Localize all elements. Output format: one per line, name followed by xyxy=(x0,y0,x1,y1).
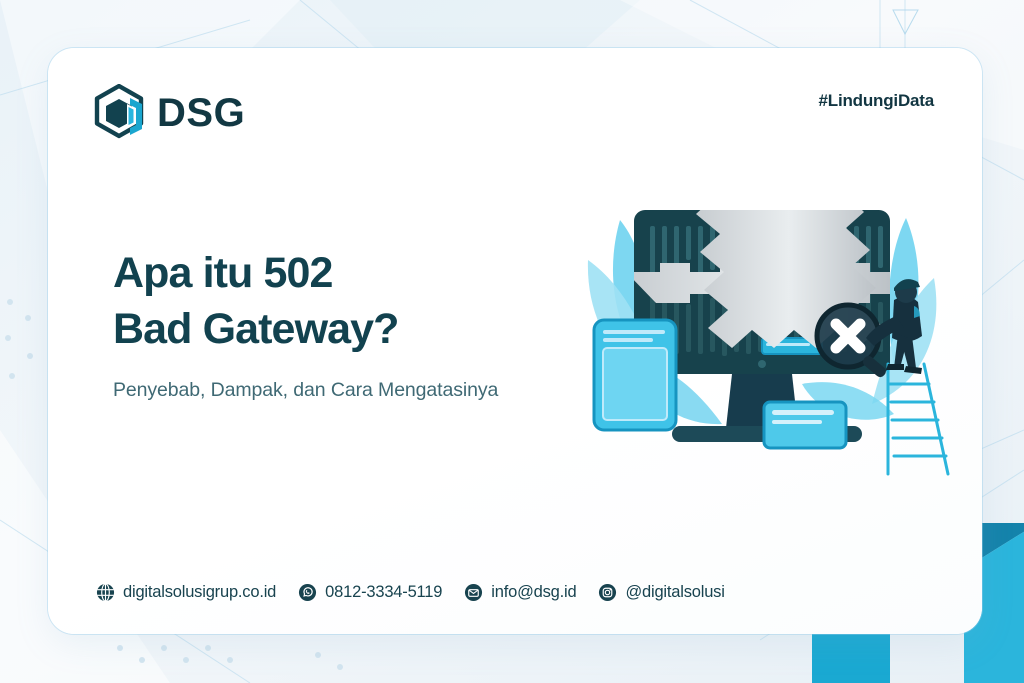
email-icon xyxy=(464,583,483,602)
contact-instagram[interactable]: @digitalsolusi xyxy=(598,583,724,602)
contact-bar: digitalsolusigrup.co.id 0812-3334-5119 xyxy=(96,583,725,602)
content-card: DSG #LindungiData Apa itu 502 Bad Gatewa… xyxy=(48,48,982,634)
contact-whatsapp[interactable]: 0812-3334-5119 xyxy=(298,583,442,602)
campaign-hashtag: #LindungiData xyxy=(819,91,934,111)
contact-website-label: digitalsolusigrup.co.id xyxy=(123,583,276,602)
contact-website[interactable]: digitalsolusigrup.co.id xyxy=(96,583,276,602)
contact-whatsapp-label: 0812-3334-5119 xyxy=(325,583,442,602)
tablet-card-icon xyxy=(594,320,676,430)
popup-card-icon xyxy=(764,402,846,448)
contact-email-label: info@dsg.id xyxy=(491,583,576,602)
hero-illustration xyxy=(576,188,976,488)
brand-wordmark: DSG xyxy=(157,93,245,133)
page-title: Apa itu 502 Bad Gateway? xyxy=(113,245,583,358)
contact-instagram-label: @digitalsolusi xyxy=(625,583,724,602)
whatsapp-icon xyxy=(298,583,317,602)
brand-logo[interactable]: DSG xyxy=(94,84,245,142)
page-subtitle: Penyebab, Dampak, dan Cara Mengatasinya xyxy=(113,379,583,402)
contact-email[interactable]: info@dsg.id xyxy=(464,583,576,602)
dsg-hexagon-logo-icon xyxy=(94,84,148,142)
hero-text-block: Apa itu 502 Bad Gateway? Penyebab, Dampa… xyxy=(113,245,583,402)
broken-server-monitor-icon xyxy=(576,188,976,488)
instagram-icon xyxy=(598,583,617,602)
poster-canvas: DSG #LindungiData Apa itu 502 Bad Gatewa… xyxy=(0,0,1024,683)
globe-icon xyxy=(96,583,115,602)
